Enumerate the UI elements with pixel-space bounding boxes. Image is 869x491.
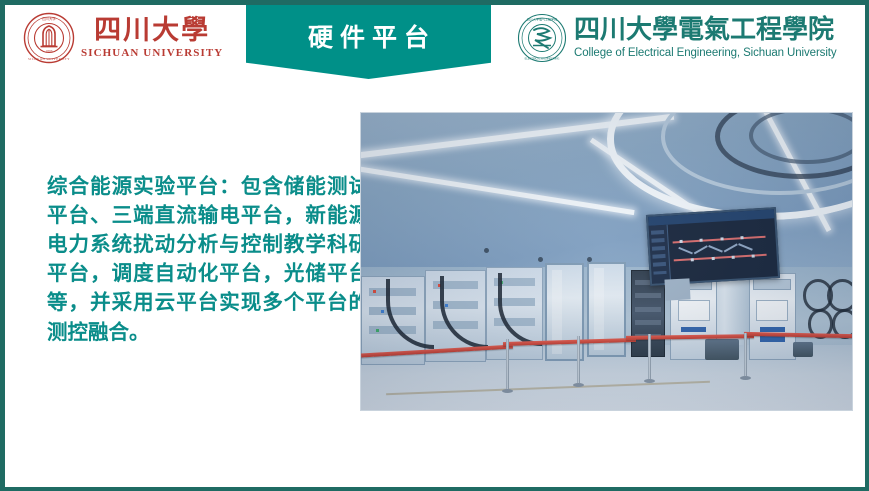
barrier-post	[648, 334, 651, 379]
header-banner: 硬件平台	[246, 5, 491, 79]
svg-text:1896: 1896	[46, 49, 53, 53]
sichuan-university-en-name: SICHUAN UNIVERSITY	[81, 48, 223, 59]
photo-content	[361, 113, 852, 410]
equipment-cabinet	[749, 273, 796, 359]
svg-text:四川大学电气工程学院: 四川大学电气工程学院	[527, 17, 557, 22]
floor-equipment	[705, 339, 739, 360]
barrier-post	[744, 333, 747, 376]
ceiling-downlight	[484, 248, 489, 253]
svg-text:四川大学: 四川大学	[42, 16, 56, 21]
monitor-sidebar	[649, 225, 671, 284]
sichuan-university-cn-name: 四川大學	[94, 17, 210, 44]
cable-harness	[827, 279, 852, 312]
college-logo: 四川大学电气工程学院 ELECTRICAL ENGINEERING 四川大學電氣…	[517, 8, 862, 68]
college-en-name: College of Electrical Engineering, Sichu…	[574, 48, 837, 60]
svg-text:SICHUAN UNIVERSITY: SICHUAN UNIVERSITY	[28, 57, 70, 61]
ceiling-light-stripe	[361, 164, 635, 215]
banner-title: 硬件平台	[301, 5, 436, 54]
college-logo-text: 四川大學電氣工程學院 College of Electrical Enginee…	[574, 17, 837, 60]
college-cn-name: 四川大學電氣工程學院	[574, 17, 837, 43]
svg-text:ELECTRICAL ENGINEERING: ELECTRICAL ENGINEERING	[525, 56, 560, 60]
barrier-post	[506, 339, 509, 389]
sichuan-university-logo-text: 四川大學 SICHUAN UNIVERSITY	[81, 17, 223, 59]
scada-monitor	[646, 207, 780, 286]
barrier-post	[577, 336, 580, 384]
sichuan-university-seal-icon: 1896 SICHUAN UNIVERSITY 四川大学	[23, 12, 75, 64]
slide-border-right	[865, 0, 869, 491]
floor-equipment	[793, 342, 813, 357]
slide-canvas: 1896 SICHUAN UNIVERSITY 四川大学 四川大學 SICHUA…	[0, 0, 869, 491]
sichuan-university-logo: 1896 SICHUAN UNIVERSITY 四川大学 四川大學 SICHUA…	[23, 8, 228, 68]
ceiling-downlight	[538, 257, 543, 262]
body-paragraph: 综合能源实验平台：包含储能测试平台、三端直流输电平台，新能源电力系统扰动分析与控…	[47, 172, 369, 347]
slide-header: 1896 SICHUAN UNIVERSITY 四川大学 四川大學 SICHUA…	[5, 5, 865, 68]
slide-border-bottom	[0, 487, 869, 491]
monitor-mount	[665, 279, 691, 301]
college-of-electrical-engineering-seal-icon: 四川大学电气工程学院 ELECTRICAL ENGINEERING	[517, 13, 567, 63]
slide-border-left	[0, 0, 5, 491]
laboratory-photo	[360, 112, 853, 411]
